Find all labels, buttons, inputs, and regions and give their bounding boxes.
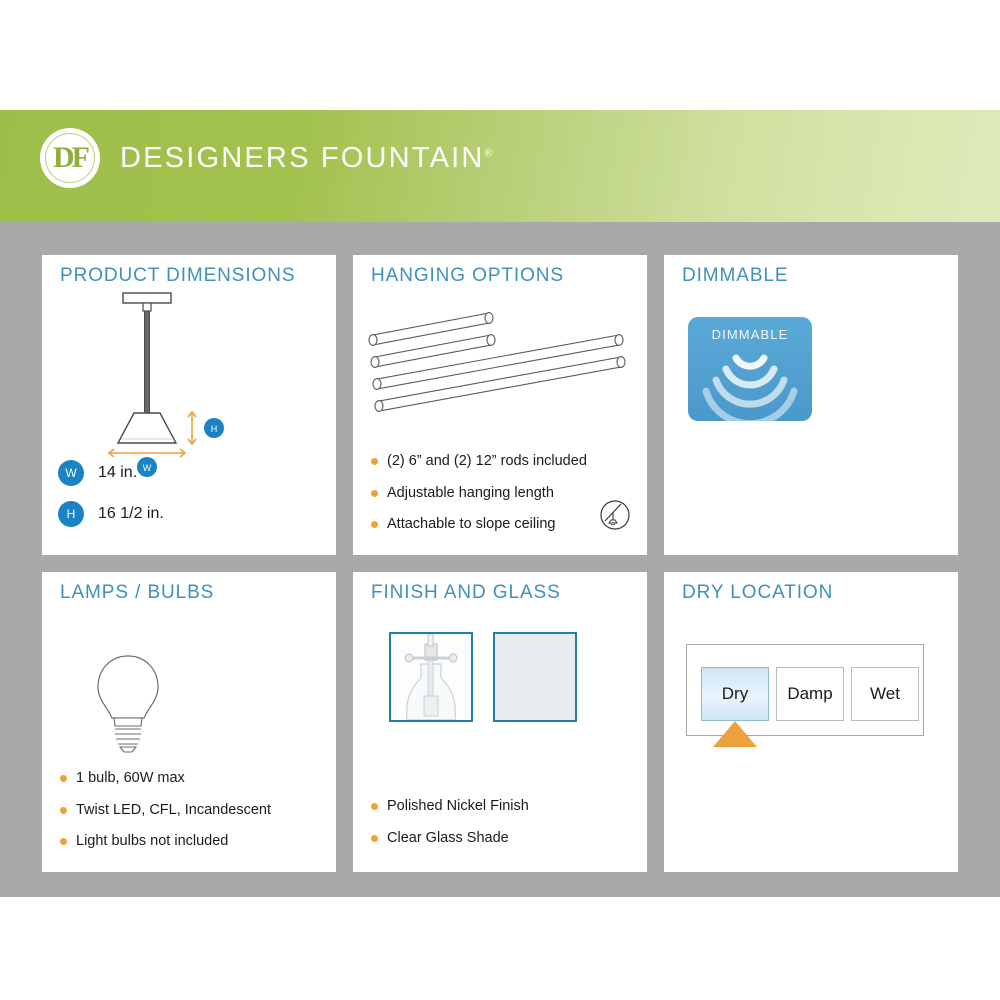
hanging-bullet-list: (2) 6” and (2) 12” rods included Adjusta…	[371, 453, 637, 548]
bullet-text: Light bulbs not included	[76, 833, 228, 850]
location-option-wet[interactable]: Wet	[851, 667, 919, 721]
monogram-ring	[45, 133, 95, 183]
list-item: Clear Glass Shade	[371, 830, 637, 847]
list-item: Twist LED, CFL, Incandescent	[60, 802, 326, 819]
location-option-dry[interactable]: Dry	[701, 667, 769, 721]
bullet-dot-icon	[60, 775, 67, 782]
card-dimmable: DIMMABLE DIMMABLE	[664, 255, 958, 555]
brand-header: DF DESIGNERS FOUNTAIN®	[0, 110, 1000, 222]
light-bulb-icon	[88, 650, 168, 760]
slope-ceiling-icon	[599, 499, 631, 531]
registered-mark: ®	[485, 147, 493, 159]
swatch-group	[389, 632, 577, 722]
bullet-dot-icon	[371, 521, 378, 528]
card-lamps-bulbs: LAMPS / BULBS 1 bulb, 60W max	[42, 572, 336, 872]
bullet-text: (2) 6” and (2) 12” rods included	[387, 453, 587, 470]
bullet-dot-icon	[60, 807, 67, 814]
legend-item-height: H 16 1/2 in.	[58, 501, 164, 527]
dimension-legend: W 14 in. H 16 1/2 in.	[58, 460, 164, 542]
list-item: Adjustable hanging length	[371, 485, 637, 502]
bullet-dot-icon	[371, 458, 378, 465]
bullet-text: Polished Nickel Finish	[387, 798, 529, 815]
spec-card-grid: PRODUCT DIMENSIONS H	[42, 255, 958, 872]
card-finish-and-glass: FINISH AND GLASS	[353, 572, 647, 872]
list-item: Attachable to slope ceiling	[371, 516, 637, 533]
card-title-dimmable: DIMMABLE	[682, 265, 788, 287]
card-dry-location: DRY LOCATION Dry Damp Wet	[664, 572, 958, 872]
designers-fountain-monogram-icon: DF	[40, 128, 100, 188]
width-badge-icon: W	[58, 460, 84, 486]
list-item: Polished Nickel Finish	[371, 798, 637, 815]
polished-nickel-swatch	[389, 632, 473, 722]
location-option-damp[interactable]: Damp	[776, 667, 844, 721]
legend-item-width: W 14 in.	[58, 460, 164, 486]
width-value: 14 in.	[98, 464, 137, 482]
brand-name: DESIGNERS FOUNTAIN®	[120, 142, 493, 175]
brand-name-text: DESIGNERS FOUNTAIN	[120, 142, 485, 174]
list-item: 1 bulb, 60W max	[60, 770, 326, 787]
nickel-fixture-photo	[391, 634, 471, 720]
svg-text:H: H	[211, 424, 218, 434]
card-title-product-dimensions: PRODUCT DIMENSIONS	[60, 265, 295, 287]
location-rating-box: Dry Damp Wet	[686, 644, 924, 736]
pendant-dimension-drawing: H	[42, 287, 336, 447]
height-badge-icon: H	[58, 501, 84, 527]
bullet-dot-icon	[371, 803, 378, 810]
card-title-lamps-bulbs: LAMPS / BULBS	[60, 582, 214, 604]
brand-logo: DF DESIGNERS FOUNTAIN®	[40, 128, 493, 188]
finish-bullet-list: Polished Nickel Finish Clear Glass Shade	[371, 798, 637, 861]
dimmable-badge-icon: DIMMABLE	[688, 317, 812, 421]
location-options: Dry Damp Wet	[701, 667, 919, 721]
list-item: Light bulbs not included	[60, 833, 326, 850]
bullet-text: Attachable to slope ceiling	[387, 516, 555, 533]
card-title-dry-location: DRY LOCATION	[682, 582, 833, 604]
bullet-dot-icon	[60, 838, 67, 845]
bullet-dot-icon	[371, 490, 378, 497]
height-value: 16 1/2 in.	[98, 505, 164, 523]
clear-glass-swatch	[493, 632, 577, 722]
list-item: (2) 6” and (2) 12” rods included	[371, 453, 637, 470]
card-title-finish-and-glass: FINISH AND GLASS	[371, 582, 561, 604]
lamps-bullet-list: 1 bulb, 60W max Twist LED, CFL, Incandes…	[60, 770, 326, 865]
card-title-hanging-options: HANGING OPTIONS	[371, 265, 564, 287]
active-location-pointer-icon	[713, 721, 757, 747]
dimmable-waves-icon	[688, 317, 812, 421]
bullet-text: 1 bulb, 60W max	[76, 770, 185, 787]
card-hanging-options: HANGING OPTIONS	[353, 255, 647, 555]
bullet-text: Clear Glass Shade	[387, 830, 509, 847]
bullet-text: Adjustable hanging length	[387, 485, 554, 502]
hanging-rods-drawing	[361, 303, 641, 423]
bullet-dot-icon	[371, 835, 378, 842]
bullet-text: Twist LED, CFL, Incandescent	[76, 802, 271, 819]
spec-sheet-page: DF DESIGNERS FOUNTAIN® PRODUCT DIMENSION…	[0, 0, 1000, 1000]
card-product-dimensions: PRODUCT DIMENSIONS H	[42, 255, 336, 555]
